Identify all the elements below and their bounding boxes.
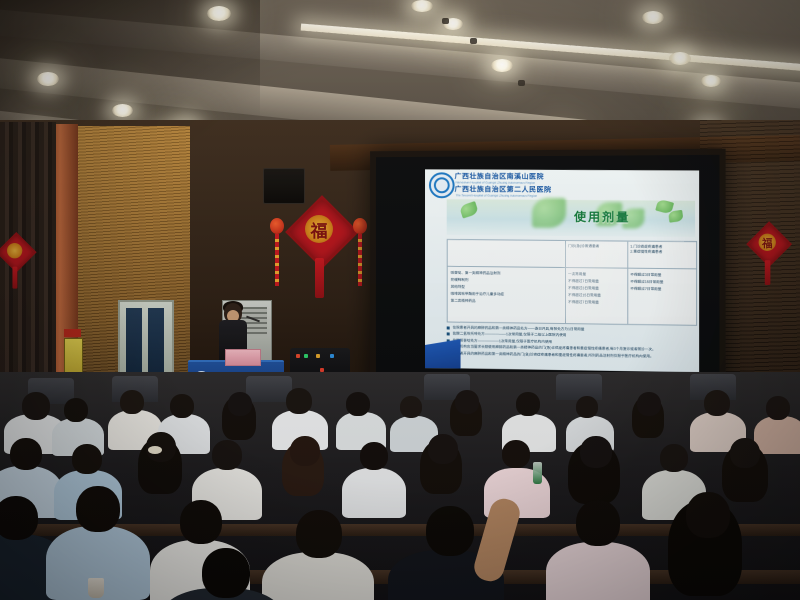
person-head — [286, 388, 312, 414]
paper-cup — [88, 578, 104, 598]
person-head — [10, 438, 42, 470]
knot-tassel — [315, 258, 324, 298]
person-head — [502, 440, 530, 468]
hair-bow — [148, 446, 162, 454]
dosage-table: 门诊(急)诊普通患者 1.门诊癌症疼痛患者 2.重症慢性疼痛患者 哌替啶、第一类… — [447, 239, 697, 326]
presentation-slide: 广西壮族自治区南溪山医院 Nanxishan Hospital of Guang… — [425, 169, 699, 372]
door-glass-pane — [126, 308, 142, 380]
downlight-icon — [207, 6, 231, 21]
person-head — [180, 500, 222, 544]
leaf-icon — [532, 198, 566, 228]
person-head — [360, 442, 388, 470]
person-head — [170, 394, 194, 418]
person-head — [212, 440, 242, 470]
table-cell-normal: 不得超过7日常用量 — [568, 279, 599, 285]
door-glass-pane — [148, 308, 164, 380]
table-cell-normal: 不得超过3日常用量 — [568, 286, 599, 292]
leaf-icon — [459, 201, 479, 218]
projection-screen: 广西壮族自治区南溪山医院 Nanxishan Hospital of Guang… — [370, 149, 726, 396]
led-indicator — [304, 354, 308, 358]
table-divider — [448, 266, 696, 270]
downlight-icon — [491, 59, 513, 72]
table-cell-label: 咖啡因哌甲酯用于治疗儿童多动症 — [451, 292, 504, 298]
person-head — [637, 392, 661, 416]
person-head — [576, 500, 620, 546]
downlight-icon — [411, 0, 433, 12]
table-cell-special: 不得超过15日常用量 — [630, 280, 663, 286]
downlight-icon — [669, 52, 691, 65]
person-head — [120, 390, 144, 414]
downlight-icon — [112, 104, 133, 117]
leaf-icon — [668, 210, 684, 223]
smoke-sensor-icon — [518, 80, 525, 86]
table-cell-label: 其他剂型 — [451, 285, 465, 290]
downlight-icon — [37, 72, 59, 86]
led-indicator — [316, 354, 320, 358]
person-torso — [342, 468, 406, 518]
table-cell-special: 不得超过3日常用量 — [630, 273, 661, 279]
hospital-name-en-2: The Second Hospital of Guangxi Zhuang Au… — [456, 193, 537, 197]
person-torso — [546, 542, 650, 600]
chair-back — [556, 374, 602, 400]
person-head — [202, 548, 250, 598]
person-head — [580, 436, 612, 468]
person-head — [228, 392, 252, 416]
podium-name-sign — [225, 349, 261, 366]
person-head — [428, 434, 458, 464]
fu-character: 福 — [753, 228, 782, 257]
lecture-hall-photo: 福 福 广西壮族自治区南溪山医院 Nanxishan Hospital of G… — [0, 0, 800, 600]
logo-inner-ring — [434, 177, 450, 193]
fire-sign-header — [64, 329, 81, 337]
downlight-icon — [701, 75, 721, 87]
table-divider — [627, 242, 628, 324]
wall-speaker — [263, 168, 305, 204]
person-head — [0, 496, 38, 540]
person-head — [426, 506, 474, 556]
knot-tassel — [765, 260, 771, 285]
table-divider — [565, 241, 566, 323]
table-cell-label: 哌替啶、第一类精神药品注射剂 — [451, 271, 501, 277]
person-torso — [262, 552, 374, 600]
projector-blue-spill — [425, 339, 461, 372]
smoke-sensor-icon — [470, 38, 477, 44]
person-head — [346, 392, 370, 416]
person-head — [76, 486, 120, 532]
table-cell-label: 第二类精神药品 — [451, 299, 476, 304]
slide-bullet-list: 住院患者开具的麻醉药品和第一类精神药品处方——逐日开具,每张处方为1日常用量 盐… — [447, 324, 695, 360]
person-head — [72, 444, 102, 474]
table-cell-normal: 不得超过7日常用量 — [568, 300, 599, 306]
person-head — [660, 444, 688, 472]
person-head — [296, 510, 342, 558]
person-head — [400, 396, 422, 418]
table-header-cell: 门诊(急)诊普通患者 — [568, 244, 624, 250]
slide-title: 使用剂量 — [574, 208, 630, 225]
fu-character: 福 — [296, 206, 342, 252]
knot-strand — [358, 234, 362, 286]
smoke-sensor-icon — [442, 18, 449, 24]
person-head — [290, 436, 320, 466]
person-head — [455, 390, 479, 414]
person-head — [686, 492, 730, 538]
table-cell-special: 不得超过7日常用量 — [630, 287, 661, 293]
led-indicator — [296, 354, 300, 358]
person-head — [64, 398, 88, 422]
hospital-logo-icon — [429, 172, 455, 198]
lantern-icon — [270, 218, 284, 234]
table-cell-normal: 一次常用量 — [568, 272, 586, 277]
person-head — [22, 392, 50, 420]
slide-banner — [447, 199, 695, 237]
knot-strand — [275, 234, 279, 286]
water-bottle — [533, 462, 542, 484]
person-head — [704, 390, 730, 416]
table-header-cell: 1.门诊癌症疼痛患者 2.重症慢性疼痛患者 — [630, 245, 693, 256]
table-cell-label: 控缓释制剂 — [451, 278, 469, 283]
person-head — [576, 396, 598, 418]
person-head — [766, 396, 790, 420]
downlight-icon — [642, 11, 664, 24]
table-cell-normal: 不得超过15日常用量 — [568, 293, 601, 299]
person-head — [516, 392, 540, 416]
person-torso — [754, 416, 800, 454]
person-head — [730, 438, 760, 468]
knot-tassel — [12, 267, 17, 289]
led-indicator — [330, 354, 334, 358]
lantern-icon — [353, 218, 367, 234]
